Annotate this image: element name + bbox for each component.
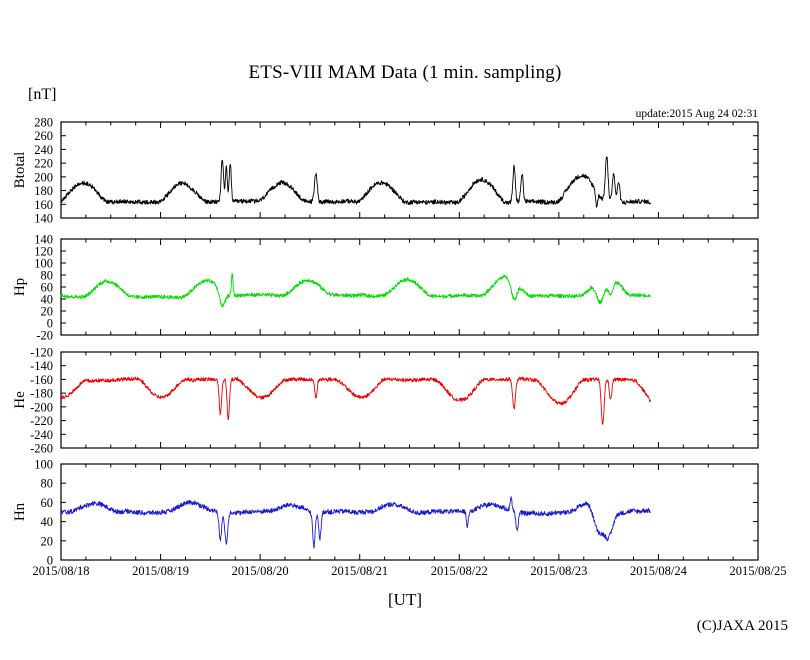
y-tick-label: 60: [41, 496, 54, 510]
panel-hn: 020406080100Hn: [12, 458, 758, 568]
panel-axis-label: Hp: [12, 278, 28, 296]
x-tick-label: 2015/08/18: [33, 564, 90, 578]
panel-frame: [61, 239, 758, 335]
y-unit-label: [nT]: [28, 86, 56, 104]
copyright-credit: (C)JAXA 2015: [697, 618, 788, 635]
y-tick-label: 80: [41, 477, 54, 491]
y-tick-label: -160: [30, 373, 53, 387]
y-tick-label: -20: [36, 329, 53, 343]
y-tick-label: 200: [34, 170, 53, 184]
y-tick-label: -140: [30, 359, 53, 373]
panel-axis-label: Hn: [12, 502, 28, 521]
y-tick-label: 260: [34, 129, 53, 143]
chart-title: ETS-VIII MAM Data (1 min. sampling): [0, 62, 810, 84]
y-tick-label: 20: [41, 534, 54, 548]
x-tick-label: 2015/08/20: [232, 564, 289, 578]
panel-frame: [61, 352, 758, 448]
plot-area: 140160180200220240260280Btotal-200204060…: [0, 0, 810, 655]
y-tick-label: 20: [41, 305, 54, 319]
update-timestamp: update:2015 Aug 24 02:31: [636, 108, 758, 120]
trace-hp: [61, 274, 650, 307]
y-tick-label: -120: [30, 346, 53, 360]
y-tick-label: -240: [30, 428, 53, 442]
x-tick-label: 2015/08/21: [331, 564, 388, 578]
x-axis-title: [UT]: [0, 590, 810, 610]
x-tick-label: 2015/08/23: [530, 564, 587, 578]
y-tick-label: 220: [34, 157, 53, 171]
x-tick-label: 2015/08/19: [132, 564, 189, 578]
y-tick-label: 0: [47, 317, 53, 331]
y-tick-label: 100: [34, 458, 53, 472]
y-tick-label: 180: [34, 184, 53, 198]
y-tick-label: 120: [34, 245, 53, 259]
y-tick-label: 140: [34, 212, 53, 226]
x-tick-label: 2015/08/22: [431, 564, 488, 578]
y-tick-label: -220: [30, 414, 53, 428]
x-tick-label: 2015/08/25: [730, 564, 787, 578]
y-tick-label: 80: [41, 269, 54, 283]
y-tick-label: -260: [30, 442, 53, 456]
mam-data-figure: ETS-VIII MAM Data (1 min. sampling) [nT]…: [0, 0, 810, 655]
y-tick-label: 240: [34, 143, 53, 157]
y-tick-label: -200: [30, 400, 53, 414]
trace-he: [61, 377, 650, 424]
y-tick-label: 280: [34, 116, 53, 130]
panel-btotal: 140160180200220240260280Btotal: [12, 116, 758, 226]
y-tick-label: -180: [30, 387, 53, 401]
y-tick-label: 160: [34, 198, 53, 212]
panel-axis-label: He: [12, 391, 28, 409]
panel-axis-label: Btotal: [12, 152, 28, 189]
trace-hn: [61, 497, 650, 548]
y-tick-label: 100: [34, 257, 53, 271]
trace-btotal: [61, 157, 650, 207]
panel-he: -260-240-220-200-180-160-140-120He: [12, 346, 758, 456]
x-tick-label: 2015/08/24: [630, 564, 688, 578]
y-tick-label: 40: [41, 515, 54, 529]
y-tick-label: 140: [34, 233, 53, 247]
y-tick-label: 60: [41, 281, 54, 295]
y-tick-label: 40: [41, 293, 54, 307]
panel-hp: -20020406080100120140Hp: [12, 233, 758, 343]
